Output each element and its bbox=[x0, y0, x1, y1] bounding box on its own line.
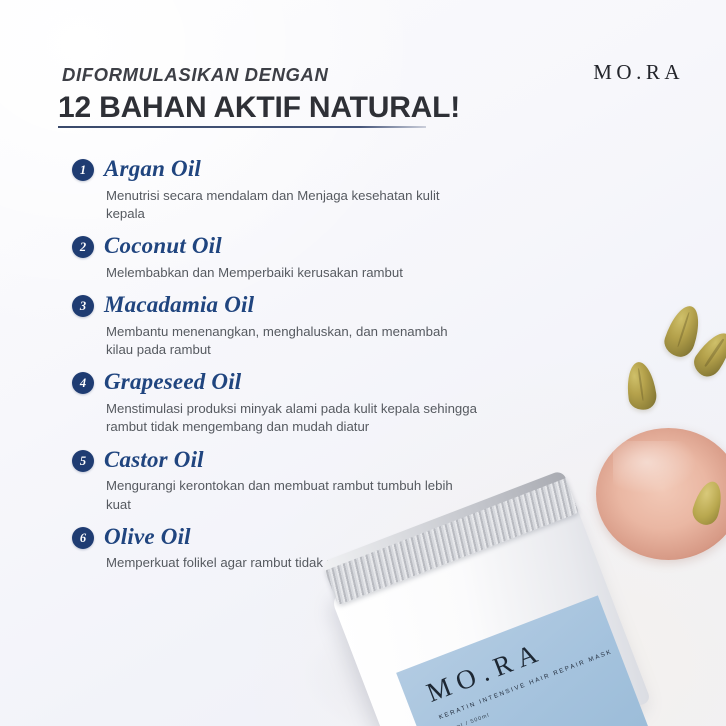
list-item: 3 Macadamia Oil Membantu menenangkan, me… bbox=[72, 292, 492, 359]
number-badge: 1 bbox=[72, 159, 94, 181]
list-item: 1 Argan Oil Menutrisi secara mendalam da… bbox=[72, 156, 492, 223]
list-item: 4 Grapeseed Oil Menstimulasi produksi mi… bbox=[72, 369, 492, 436]
list-item: 2 Coconut Oil Melembabkan dan Memperbaik… bbox=[72, 233, 492, 282]
ingredient-title: Coconut Oil bbox=[104, 233, 492, 259]
ingredient-title: Castor Oil bbox=[104, 447, 492, 473]
promo-poster: MO.RA DIFORMULASIKAN DENGAN 12 BAHAN AKT… bbox=[0, 0, 726, 726]
ingredient-list: 1 Argan Oil Menutrisi secara mendalam da… bbox=[72, 156, 492, 583]
brand-logo: MO.RA bbox=[593, 60, 684, 85]
ingredient-title: Grapeseed Oil bbox=[104, 369, 492, 395]
ingredient-description: Menutrisi secara mendalam dan Menjaga ke… bbox=[106, 187, 478, 223]
olive-fruit-icon bbox=[624, 360, 658, 411]
ingredient-title: Macadamia Oil bbox=[104, 292, 492, 318]
ingredient-description: Membantu menenangkan, menghaluskan, dan … bbox=[106, 323, 478, 359]
number-badge: 4 bbox=[72, 372, 94, 394]
number-badge: 2 bbox=[72, 236, 94, 258]
list-item: 5 Castor Oil Mengurangi kerontokan dan m… bbox=[72, 447, 492, 514]
header-eyebrow: DIFORMULASIKAN DENGAN bbox=[62, 64, 488, 86]
ingredient-title: Argan Oil bbox=[104, 156, 492, 182]
number-badge: 6 bbox=[72, 527, 94, 549]
header-divider bbox=[58, 126, 426, 128]
ingredient-description: Menstimulasi produksi minyak alami pada … bbox=[106, 400, 478, 436]
header-block: DIFORMULASIKAN DENGAN 12 BAHAN AKTIF NAT… bbox=[58, 64, 488, 124]
ingredient-description: Mengurangi kerontokan dan membuat rambut… bbox=[106, 477, 478, 513]
number-badge: 5 bbox=[72, 450, 94, 472]
page-title: 12 BAHAN AKTIF NATURAL! bbox=[58, 92, 488, 124]
number-badge: 3 bbox=[72, 295, 94, 317]
ingredient-description: Melembabkan dan Memperbaiki kerusakan ra… bbox=[106, 264, 478, 282]
jar-label: MO.RA KERATIN INTENSIVE HAIR REPAIR MASK… bbox=[396, 595, 652, 726]
